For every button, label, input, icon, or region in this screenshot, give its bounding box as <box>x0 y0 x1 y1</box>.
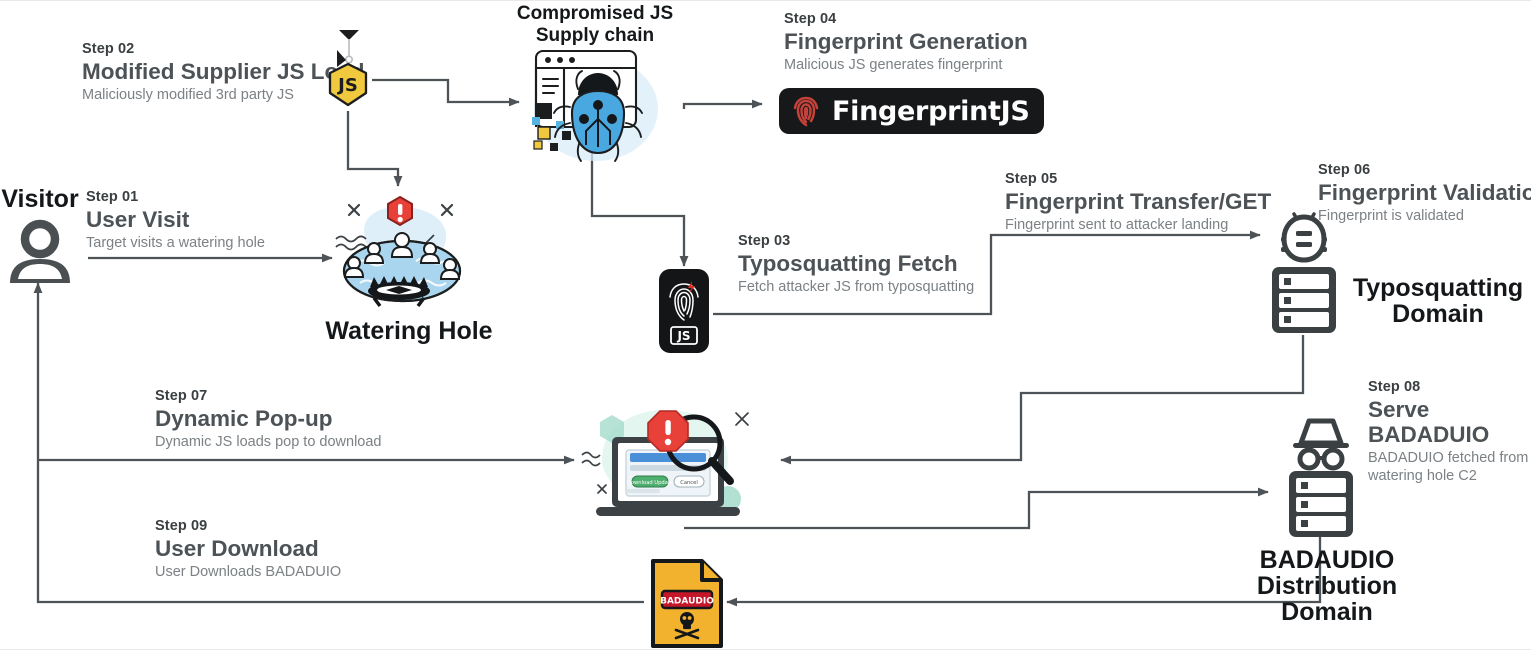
step-06-text: Step 06 Fingerprint Validation Fingerpri… <box>1318 162 1531 225</box>
laptop-popup-icon: Download Update Cancel <box>578 393 778 533</box>
step-08-number: Step 08 <box>1368 379 1531 396</box>
wire-js-to-watering-hole <box>348 111 398 186</box>
badaudio-domain-label-line1: BADAUDIO <box>1232 546 1422 575</box>
popup-primary-button-label: Download Update <box>627 480 673 486</box>
step-07-number: Step 07 <box>155 388 382 405</box>
step-01-sub: Target visits a watering hole <box>86 234 265 252</box>
server-bug-icon <box>1268 205 1340 335</box>
wire-step02 <box>372 80 519 102</box>
step-04-number: Step 04 <box>784 11 1028 28</box>
fingerprint-js-black-icon: JS <box>659 269 709 353</box>
step-05-title: Fingerprint Transfer/GET <box>1005 189 1271 214</box>
step-05-sub: Fingerprint sent to attacker landing <box>1005 216 1271 234</box>
step-06-sub: Fingerprint is validated <box>1318 207 1531 225</box>
step-08-title: Serve BADADUIO <box>1368 397 1531 447</box>
step-07-title: Dynamic Pop-up <box>155 406 382 431</box>
step-07-sub: Dynamic JS loads pop to download <box>155 433 382 451</box>
fingerprint-logo-icon <box>789 94 823 128</box>
step-09-number: Step 09 <box>155 518 341 535</box>
step-04-text: Step 04 Fingerprint Generation Malicious… <box>784 11 1028 74</box>
server-incognito-icon <box>1285 413 1357 537</box>
step-05-text: Step 05 Fingerprint Transfer/GET Fingerp… <box>1005 171 1271 234</box>
step-02-title: Modified Supplier JS Load <box>82 59 365 84</box>
attack-chain-diagram: Step 01 User Visit Target visits a water… <box>0 0 1531 650</box>
visitor-label: Visitor <box>0 185 80 214</box>
supply-chain-label-line2: Supply chain <box>500 25 690 47</box>
step-06-title: Fingerprint Validation <box>1318 180 1531 205</box>
badaudio-domain-label-line3: Domain <box>1232 598 1422 627</box>
step-04-sub: Malicious JS generates fingerprint <box>784 56 1028 74</box>
wire-step06-to-popup <box>781 335 1303 460</box>
typosquatting-domain-label-line1: Typosquatting <box>1345 274 1531 303</box>
step-03-title: Typosquatting Fetch <box>738 251 974 276</box>
popup-secondary-button-label: Cancel <box>680 480 698 486</box>
step-02-number: Step 02 <box>82 41 365 58</box>
step-06-number: Step 06 <box>1318 162 1531 179</box>
step-04-title: Fingerprint Generation <box>784 29 1028 54</box>
step-05-number: Step 05 <box>1005 171 1271 188</box>
step-01-title: User Visit <box>86 207 265 232</box>
js-shield-label: JS <box>336 75 358 96</box>
step-08-sub: BADADUIO fetched from watering hole C2 <box>1368 449 1531 485</box>
step-08-text: Step 08 Serve BADADUIO BADADUIO fetched … <box>1368 379 1531 485</box>
step-07-text: Step 07 Dynamic Pop-up Dynamic JS loads … <box>155 388 382 451</box>
browser-bug-icon <box>512 47 672 169</box>
badaudio-domain-label-line2: Distribution <box>1232 572 1422 601</box>
wire-step04 <box>684 104 762 109</box>
malicious-file-icon: BADAUDIO <box>648 558 726 649</box>
typosquatting-domain-label-line2: Domain <box>1345 300 1531 329</box>
step-09-sub: User Downloads BADADUIO <box>155 563 341 581</box>
supply-chain-label-line1: Compromised JS <box>500 3 690 25</box>
step-03-text: Step 03 Typosquatting Fetch Fetch attack… <box>738 233 974 296</box>
watering-hole-icon <box>330 191 478 319</box>
js-shield-icon: JS <box>326 27 380 113</box>
step-01-number: Step 01 <box>86 189 265 206</box>
step-09-title: User Download <box>155 536 341 561</box>
visitor-icon <box>6 217 74 285</box>
step-02-text: Step 02 Modified Supplier JS Load Malici… <box>82 41 365 104</box>
fingerprintjs-logo: FingerprintJS <box>779 88 1044 134</box>
fingerprintjs-label: FingerprintJS <box>832 96 1030 127</box>
step-09-text: Step 09 User Download User Downloads BAD… <box>155 518 341 581</box>
badaudio-file-label: BADAUDIO <box>660 597 714 607</box>
step-03-number: Step 03 <box>738 233 974 250</box>
step-02-sub: Maliciously modified 3rd party JS <box>82 86 365 104</box>
step-01-text: Step 01 User Visit Target visits a water… <box>86 189 265 252</box>
typosquat-js-label: JS <box>676 329 690 343</box>
watering-hole-label: Watering Hole <box>305 317 513 346</box>
step-03-sub: Fetch attacker JS from typosquatting <box>738 278 974 296</box>
